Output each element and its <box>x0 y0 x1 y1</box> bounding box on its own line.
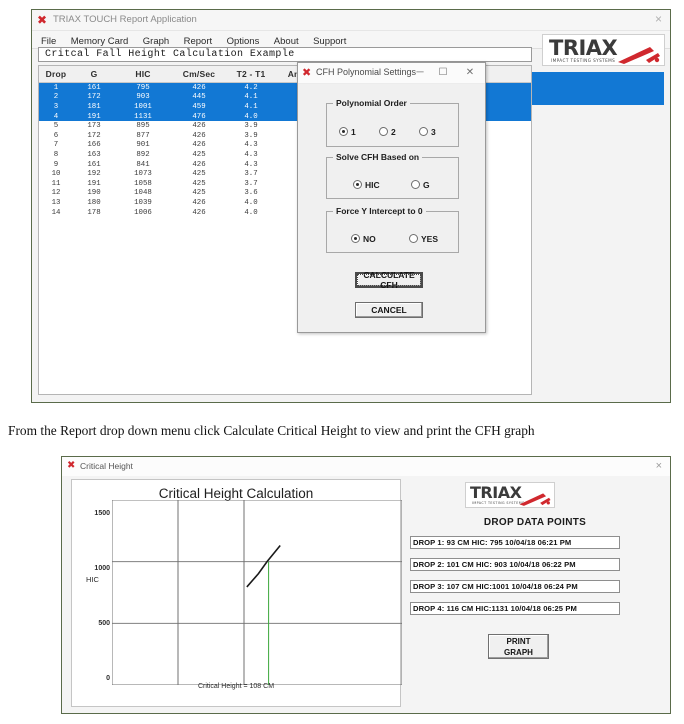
chart-window-title: Critical Height <box>80 461 133 471</box>
radio-label: 2 <box>391 127 396 137</box>
radio-polynomial-order-1[interactable]: 1 <box>339 127 356 137</box>
cell-cms: 426 <box>171 84 227 92</box>
cell-cms: 425 <box>171 180 227 188</box>
cell-g: 181 <box>73 103 115 111</box>
force-y-intercept-legend: Force Y Intercept to 0 <box>333 206 426 216</box>
cell-hic: 1058 <box>115 180 171 188</box>
cell-hic: 1039 <box>115 199 171 207</box>
cell-t: 4.3 <box>227 161 275 169</box>
print-graph-button[interactable]: PRINT GRAPH <box>488 634 549 659</box>
cell-g: 172 <box>73 132 115 140</box>
cell-t: 4.1 <box>227 93 275 101</box>
radio-dot-icon <box>379 127 388 136</box>
cell-t: 4.3 <box>227 141 275 149</box>
cell-hic: 795 <box>115 84 171 92</box>
radio-label: NO <box>363 234 376 244</box>
cell-t: 4.1 <box>227 103 275 111</box>
cell-drop: 7 <box>39 141 73 149</box>
radio-dot-icon <box>353 180 362 189</box>
polynomial-order-group: Polynomial Order 1 2 3 <box>326 103 459 147</box>
cell-drop: 13 <box>39 199 73 207</box>
cell-cms: 476 <box>171 113 227 121</box>
cell-cms: 426 <box>171 122 227 130</box>
cell-t: 3.9 <box>227 122 275 130</box>
close-icon[interactable]: ✕ <box>463 67 477 78</box>
cell-g: 173 <box>73 122 115 130</box>
x-axis-caption: Critical Height = 108 CM <box>72 683 400 690</box>
report-title-input[interactable]: Critcal Fall Height Calculation Example <box>38 47 532 62</box>
triax-logo-word: TRIAX <box>470 483 521 502</box>
triax-logo-word: TRIAX <box>549 36 617 60</box>
radio-label: HIC <box>365 180 380 190</box>
radio-label: YES <box>421 234 438 244</box>
cell-drop: 14 <box>39 209 73 217</box>
radio-dot-icon <box>419 127 428 136</box>
solve-cfh-based-on-group: Solve CFH Based on HIC G <box>326 157 459 199</box>
cell-cms: 425 <box>171 170 227 178</box>
cfh-polynomial-settings-dialog: ✖ CFH Polynomial Settings ─ ☐ ✕ Polynomi… <box>297 62 486 333</box>
triax-logo: TRIAX IMPACT TESTING SYSTEMS <box>465 482 555 508</box>
cell-hic: 841 <box>115 161 171 169</box>
critical-height-window: ✖ Critical Height × Critical Height Calc… <box>61 456 671 714</box>
cell-t: 3.7 <box>227 180 275 188</box>
triax-logo-tagline: IMPACT TESTING SYSTEMS <box>472 501 524 505</box>
cell-drop: 10 <box>39 170 73 178</box>
radio-force-y-yes[interactable]: YES <box>409 234 438 244</box>
solve-cfh-legend: Solve CFH Based on <box>333 152 422 162</box>
cell-g: 178 <box>73 209 115 217</box>
drop-row-1: DROP 1: 93 CM HIC: 795 10/04/18 06:21 PM <box>410 536 620 549</box>
chart-title: Critical Height Calculation <box>72 486 400 501</box>
triax-x-icon: ✖ <box>302 67 311 78</box>
cell-g: 172 <box>73 93 115 101</box>
y-tick-1500: 1500 <box>80 510 110 517</box>
cell-cms: 426 <box>171 161 227 169</box>
cell-cms: 426 <box>171 199 227 207</box>
close-icon[interactable]: × <box>655 13 662 25</box>
chart-window-title-bar: ✖ Critical Height × <box>62 457 670 476</box>
cell-t: 3.6 <box>227 189 275 197</box>
cell-hic: 903 <box>115 93 171 101</box>
cell-g: 191 <box>73 113 115 121</box>
triax-logo-tagline: IMPACT TESTING SYSTEMS <box>551 58 615 63</box>
cell-hic: 901 <box>115 141 171 149</box>
column-header-g[interactable]: G <box>73 69 115 79</box>
radio-dot-icon <box>351 234 360 243</box>
triax-swoosh-icon <box>616 44 662 64</box>
cell-g: 192 <box>73 170 115 178</box>
drop-row-2: DROP 2: 101 CM HIC: 903 10/04/18 06:22 P… <box>410 558 620 571</box>
cell-g: 161 <box>73 84 115 92</box>
drop-row-4: DROP 4: 116 CM HIC:1131 10/04/18 06:25 P… <box>410 602 620 615</box>
app-title-bar: ✖ TRIAX TOUCH Report Application × <box>32 10 670 31</box>
radio-force-y-no[interactable]: NO <box>351 234 376 244</box>
report-application-window: ✖ TRIAX TOUCH Report Application × File … <box>31 9 671 403</box>
cell-t: 4.3 <box>227 151 275 159</box>
critical-height-plot: Critical Height Calculation HIC 1500 100… <box>71 479 401 707</box>
triax-swoosh-icon <box>518 491 552 506</box>
column-header-t2t1[interactable]: T2 - T1 <box>227 69 275 79</box>
cell-g: 190 <box>73 189 115 197</box>
report-title-value: Critcal Fall Height Calculation Example <box>45 49 295 60</box>
plot-canvas <box>112 500 402 685</box>
cell-g: 191 <box>73 180 115 188</box>
app-title: TRIAX TOUCH Report Application <box>53 14 197 25</box>
y-tick-0: 0 <box>80 675 110 682</box>
cell-t: 4.0 <box>227 209 275 217</box>
cell-cms: 426 <box>171 132 227 140</box>
radio-dot-icon <box>411 180 420 189</box>
cell-hic: 895 <box>115 122 171 130</box>
cell-cms: 426 <box>171 209 227 217</box>
print-graph-line2: GRAPH <box>504 647 533 658</box>
cell-cms: 459 <box>171 103 227 111</box>
cell-drop: 4 <box>39 113 73 121</box>
radio-solve-g[interactable]: G <box>411 180 430 190</box>
column-header-drop[interactable]: Drop <box>39 69 73 79</box>
cell-drop: 1 <box>39 84 73 92</box>
instruction-caption: From the Report drop down menu click Cal… <box>8 423 678 439</box>
calculate-cfh-button[interactable]: CALCULATE CFH <box>355 272 423 288</box>
cancel-button[interactable]: CANCEL <box>355 302 423 318</box>
triax-logo: TRIAX IMPACT TESTING SYSTEMS <box>542 34 665 66</box>
cell-g: 180 <box>73 199 115 207</box>
cell-t: 4.0 <box>227 199 275 207</box>
cell-drop: 3 <box>39 103 73 111</box>
dialog-title: CFH Polynomial Settings <box>316 67 416 77</box>
radio-solve-hic[interactable]: HIC <box>353 180 380 190</box>
cell-drop: 11 <box>39 180 73 188</box>
cell-g: 166 <box>73 141 115 149</box>
radio-polynomial-order-3[interactable]: 3 <box>419 127 436 137</box>
column-header-hic[interactable]: HIC <box>115 69 171 79</box>
minimize-icon[interactable]: ─ <box>413 67 427 78</box>
cell-drop: 5 <box>39 122 73 130</box>
cell-hic: 1073 <box>115 170 171 178</box>
maximize-icon[interactable]: ☐ <box>436 67 450 78</box>
cell-hic: 892 <box>115 151 171 159</box>
drop-row-3: DROP 3: 107 CM HIC:1001 10/04/18 06:24 P… <box>410 580 620 593</box>
radio-dot-icon <box>339 127 348 136</box>
radio-polynomial-order-2[interactable]: 2 <box>379 127 396 137</box>
dialog-title-bar: ✖ CFH Polynomial Settings ─ ☐ ✕ <box>298 63 485 84</box>
cell-drop: 8 <box>39 151 73 159</box>
radio-label: G <box>423 180 430 190</box>
polynomial-order-legend: Polynomial Order <box>333 98 410 108</box>
triax-x-icon: ✖ <box>67 461 75 471</box>
radio-dot-icon <box>409 234 418 243</box>
cell-drop: 6 <box>39 132 73 140</box>
drop-data-panel: TRIAX IMPACT TESTING SYSTEMS DROP DATA P… <box>407 479 663 707</box>
cell-cms: 425 <box>171 151 227 159</box>
radio-label: 1 <box>351 127 356 137</box>
drop-data-points-title: DROP DATA POINTS <box>407 517 663 528</box>
cell-cms: 426 <box>171 141 227 149</box>
cell-g: 161 <box>73 161 115 169</box>
cell-drop: 2 <box>39 93 73 101</box>
cell-t: 4.2 <box>227 84 275 92</box>
y-axis-label: HIC <box>86 575 99 584</box>
cell-cms: 445 <box>171 93 227 101</box>
column-header-cmsec[interactable]: Cm/Sec <box>171 69 227 79</box>
cell-t: 3.7 <box>227 170 275 178</box>
triax-x-icon: ✖ <box>37 14 49 26</box>
cell-t: 4.0 <box>227 113 275 121</box>
cell-hic: 1131 <box>115 113 171 121</box>
y-tick-1000: 1000 <box>80 565 110 572</box>
cell-hic: 1048 <box>115 189 171 197</box>
cell-drop: 12 <box>39 189 73 197</box>
cell-t: 3.9 <box>227 132 275 140</box>
cell-hic: 1001 <box>115 103 171 111</box>
radio-label: 3 <box>431 127 436 137</box>
close-icon[interactable]: × <box>656 460 662 472</box>
grid-selection-strip <box>532 72 664 105</box>
print-graph-line1: PRINT <box>507 636 531 647</box>
cell-hic: 1006 <box>115 209 171 217</box>
y-tick-500: 500 <box>80 620 110 627</box>
cell-drop: 9 <box>39 161 73 169</box>
cell-cms: 425 <box>171 189 227 197</box>
cell-hic: 877 <box>115 132 171 140</box>
cell-g: 163 <box>73 151 115 159</box>
force-y-intercept-group: Force Y Intercept to 0 NO YES <box>326 211 459 253</box>
series-0 <box>247 546 280 587</box>
